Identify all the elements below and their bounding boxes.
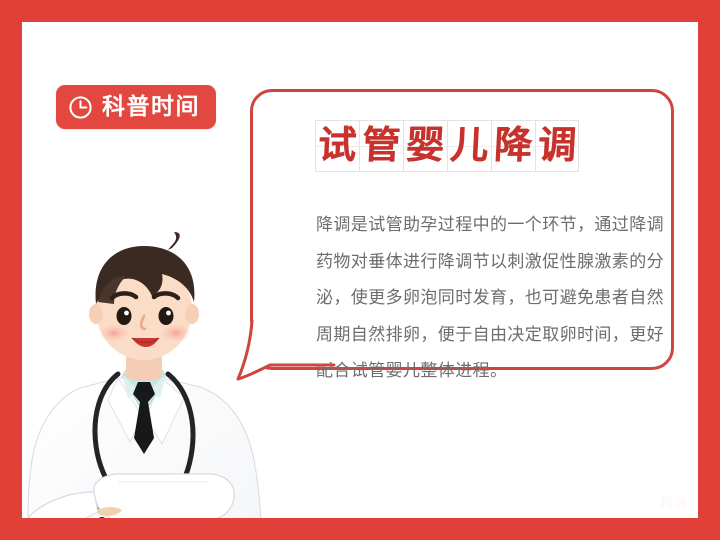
headline-char: 试	[317, 126, 357, 164]
doctor-eye-left	[117, 307, 132, 325]
headline-cell: 儿	[447, 120, 491, 172]
topic-badge-label: 科普时间	[102, 95, 200, 118]
topic-badge[interactable]: 科普时间	[56, 85, 216, 129]
cartoon-doctor-illustration	[22, 192, 270, 518]
headline-char: 管	[361, 126, 401, 164]
headline-cell: 婴	[403, 120, 447, 172]
headline-cell: 试	[315, 120, 359, 172]
clock-icon	[68, 95, 93, 120]
watermark: 科普	[660, 493, 690, 512]
poster-canvas: 科普时间 试 管 婴 儿 降 调 降调是试管助孕过程中的一个环节，通过降调药物对…	[22, 22, 698, 518]
speech-bubble: 试 管 婴 儿 降 调 降调是试管助孕过程中的一个环节，通过降调药物对垂体进行降…	[250, 89, 674, 370]
headline-char: 调	[537, 126, 577, 164]
doctor-blush-right	[161, 324, 191, 342]
doctor-blush-left	[99, 324, 129, 342]
doctor-eye-right	[159, 307, 174, 325]
headline-char: 婴	[405, 126, 445, 164]
headline-grid: 试 管 婴 儿 降 调	[315, 120, 579, 172]
headline-char: 儿	[449, 126, 489, 164]
bubble-tail-mask	[248, 322, 254, 368]
headline-char: 降	[493, 126, 533, 164]
bubble-body-text: 降调是试管助孕过程中的一个环节，通过降调药物对垂体进行降调节以刺激促性腺激素的分…	[316, 207, 664, 390]
poster-root: 科普时间 试 管 婴 儿 降 调 降调是试管助孕过程中的一个环节，通过降调药物对…	[0, 0, 720, 540]
headline-cell: 降	[491, 120, 535, 172]
headline-cell: 管	[359, 120, 403, 172]
headline-cell: 调	[535, 120, 579, 172]
doctor-cowlick	[168, 232, 180, 250]
